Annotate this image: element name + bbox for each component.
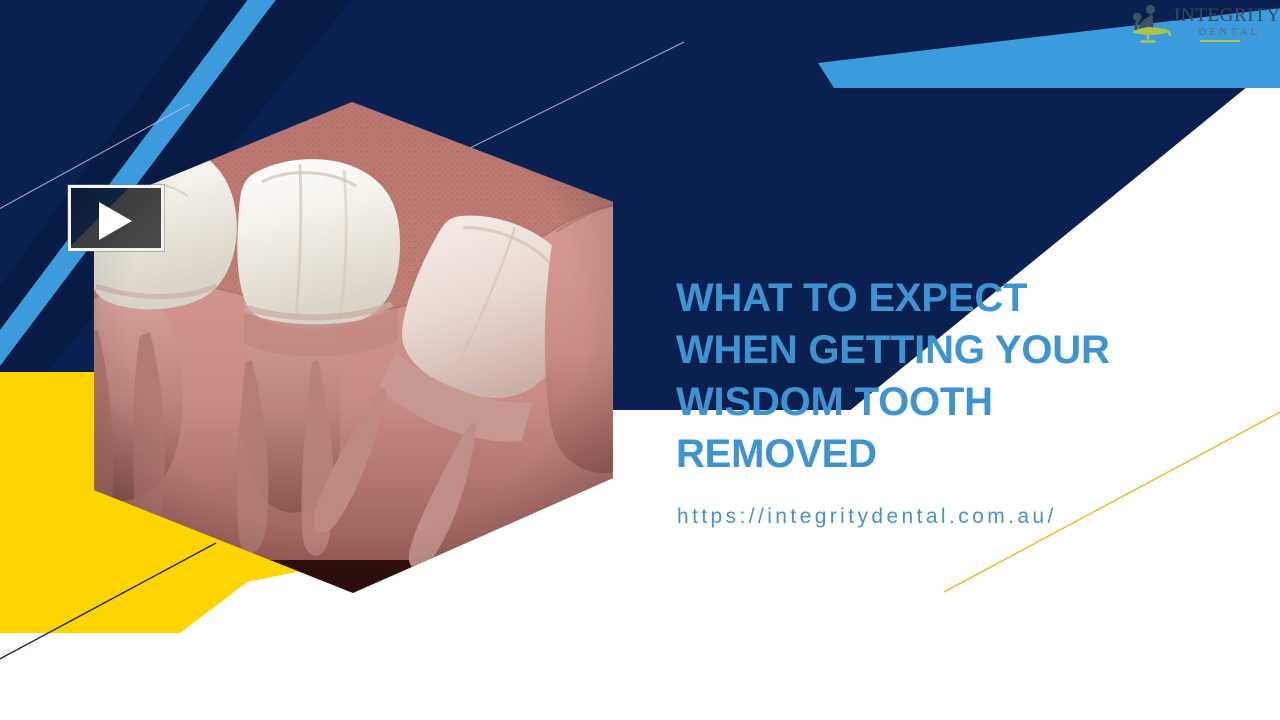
dental-chair-patient-icon — [1126, 3, 1172, 45]
brand-logo-text: INTEGRITY DENTAL — [1174, 6, 1280, 42]
presentation-slide: WHAT TO EXPECT WHEN GETTING YOUR WISDOM … — [0, 0, 1280, 720]
logo-underline-rule — [1200, 40, 1240, 42]
brand-name: INTEGRITY — [1174, 6, 1280, 25]
page-title: WHAT TO EXPECT WHEN GETTING YOUR WISDOM … — [676, 272, 1146, 480]
website-url-link[interactable]: https://integritydental.com.au/ — [677, 505, 1057, 529]
brand-logo[interactable]: INTEGRITY DENTAL — [1126, 2, 1276, 46]
video-play-button[interactable] — [68, 185, 164, 251]
brand-tagline: DENTAL — [1174, 27, 1280, 38]
play-triangle-icon — [99, 202, 132, 240]
